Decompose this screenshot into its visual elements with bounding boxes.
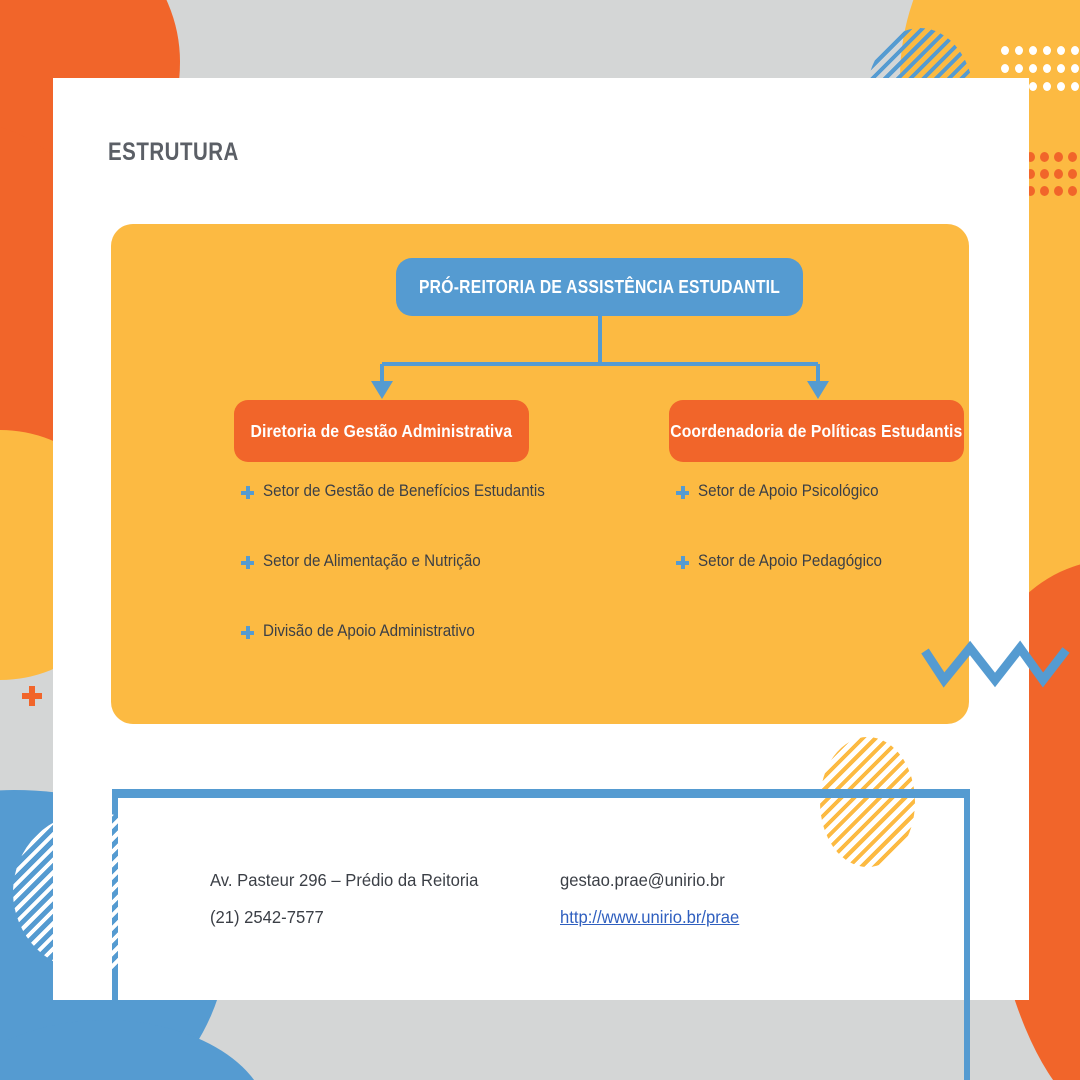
poster-canvas: ESTRUTURA PRÓ-REITORIA DE ASSISTÊNCIA ES… (0, 0, 1080, 1080)
plus-icon (241, 626, 254, 639)
plus-icon (241, 486, 254, 499)
plus-icon (241, 556, 254, 569)
list-item[interactable]: Setor de Alimentação e Nutrição (241, 552, 621, 622)
org-node-coordenadoria[interactable]: Coordenadoria de Políticas Estudantis (669, 400, 964, 462)
blue-zigzag-icon (920, 638, 1070, 688)
footer-contact: Av. Pasteur 296 – Prédio da Reitoria (21… (155, 862, 915, 972)
list-item-label: Setor de Apoio Psicológico (698, 482, 879, 501)
list-item[interactable]: Divisão de Apoio Administrativo (241, 622, 621, 692)
org-chart-panel: PRÓ-REITORIA DE ASSISTÊNCIA ESTUDANTIL D… (111, 224, 969, 724)
org-list-right: Setor de Apoio Psicológico Setor de Apoi… (676, 482, 1056, 622)
website-link[interactable]: http://www.unirio.br/prae (560, 899, 739, 936)
email-text: gestao.prae@unirio.br (560, 862, 739, 899)
list-item-label: Setor de Alimentação e Nutrição (263, 552, 481, 571)
striped-white-circle-icon (13, 812, 173, 972)
list-item[interactable]: Setor de Gestão de Benefícios Estudantis (241, 482, 621, 552)
list-item[interactable]: Setor de Apoio Pedagógico (676, 552, 1056, 622)
phone-text: (21) 2542-7577 (210, 899, 478, 936)
org-node-coordenadoria-label: Coordenadoria de Políticas Estudantis (670, 421, 962, 442)
address-text: Av. Pasteur 296 – Prédio da Reitoria (210, 862, 478, 899)
list-item-label: Setor de Gestão de Benefícios Estudantis (263, 482, 545, 501)
org-node-diretoria-label: Diretoria de Gestão Administrativa (251, 421, 513, 442)
list-item-label: Divisão de Apoio Administrativo (263, 622, 475, 641)
org-node-root-label: PRÓ-REITORIA DE ASSISTÊNCIA ESTUDANTIL (419, 277, 780, 298)
contact-column-left: Av. Pasteur 296 – Prédio da Reitoria (21… (210, 862, 492, 936)
org-node-root[interactable]: PRÓ-REITORIA DE ASSISTÊNCIA ESTUDANTIL (396, 258, 803, 316)
orange-plus-icon (22, 686, 42, 706)
list-item-label: Setor de Apoio Pedagógico (698, 552, 882, 571)
org-node-diretoria[interactable]: Diretoria de Gestão Administrativa (234, 400, 529, 462)
contact-column-right: gestao.prae@unirio.br http://www.unirio.… (560, 862, 749, 936)
list-item[interactable]: Setor de Apoio Psicológico (676, 482, 1056, 552)
plus-icon (676, 556, 689, 569)
plus-icon (676, 486, 689, 499)
page-title: ESTRUTURA (108, 138, 239, 167)
org-list-left: Setor de Gestão de Benefícios Estudantis… (241, 482, 621, 692)
